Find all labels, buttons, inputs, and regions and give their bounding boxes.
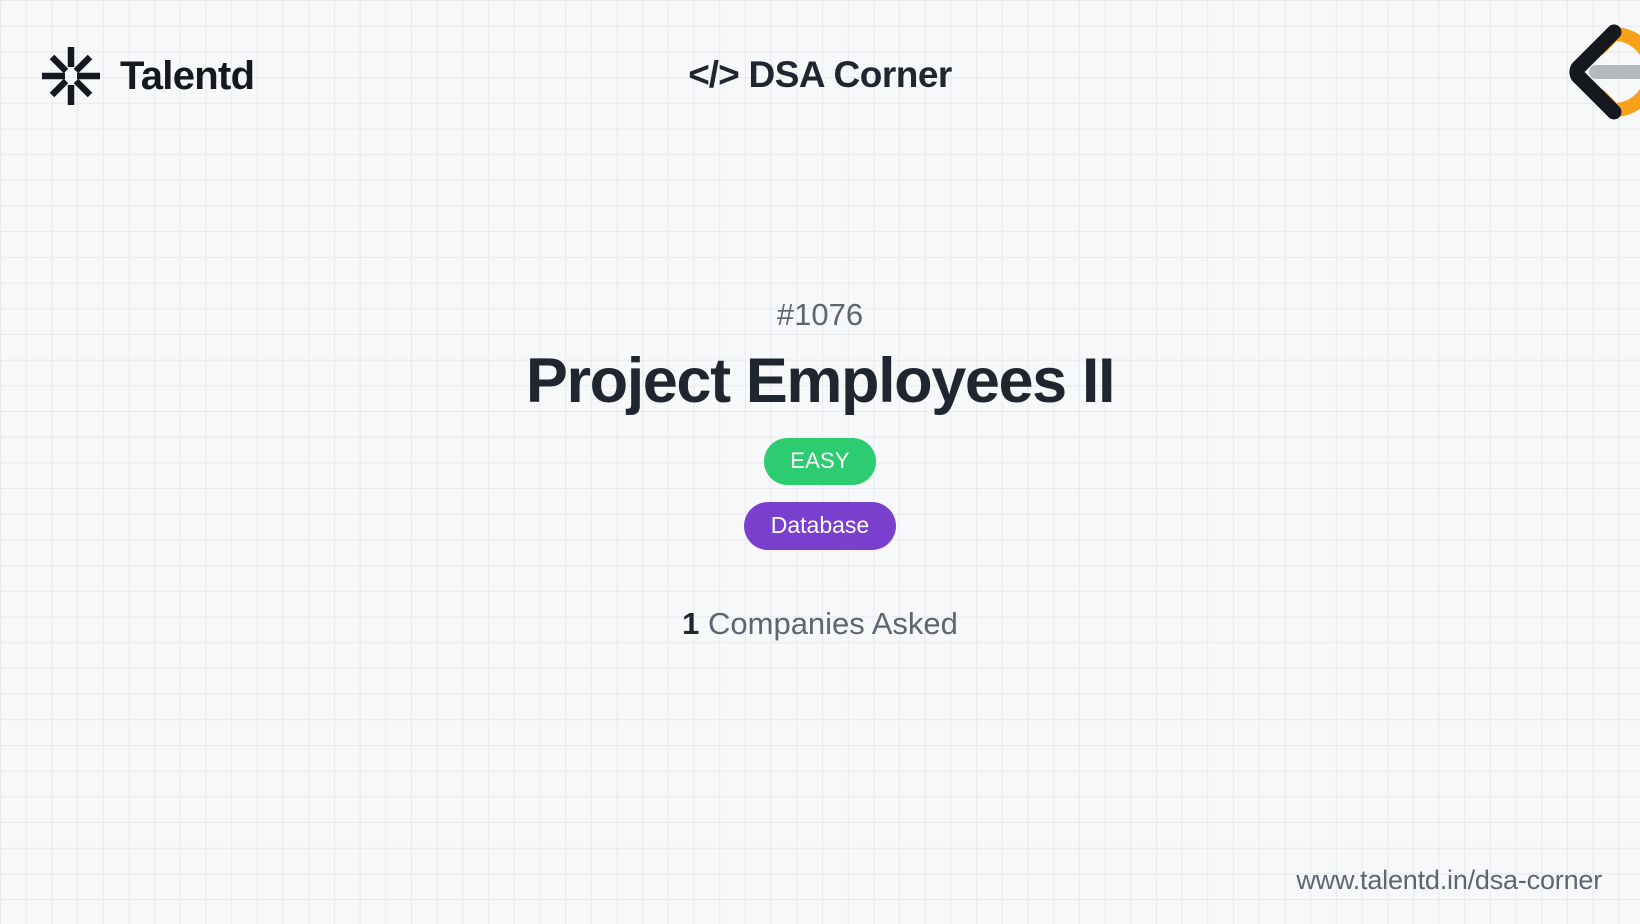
- problem-card: #1076 Project Employees II EASY Database…: [0, 296, 1640, 642]
- difficulty-badge[interactable]: EASY: [764, 438, 876, 485]
- topic-badge[interactable]: Database: [744, 502, 896, 550]
- page-title: </> DSA Corner: [0, 53, 1640, 97]
- problem-title: Project Employees II: [526, 345, 1114, 417]
- problem-number: #1076: [777, 296, 863, 333]
- footer-url[interactable]: www.talentd.in/dsa-corner: [1296, 864, 1602, 896]
- page-title-text: DSA Corner: [748, 54, 951, 95]
- companies-count: 1: [682, 606, 699, 641]
- difficulty-badge-row: EASY: [764, 438, 876, 485]
- companies-label: Companies Asked: [708, 606, 958, 641]
- companies-asked: 1 Companies Asked: [682, 605, 958, 642]
- code-brackets-icon: </>: [688, 54, 739, 95]
- topic-badge-row: Database: [744, 502, 896, 550]
- page-header: Talentd </> DSA Corner: [0, 0, 1640, 155]
- leetcode-logo-icon: [1538, 18, 1640, 126]
